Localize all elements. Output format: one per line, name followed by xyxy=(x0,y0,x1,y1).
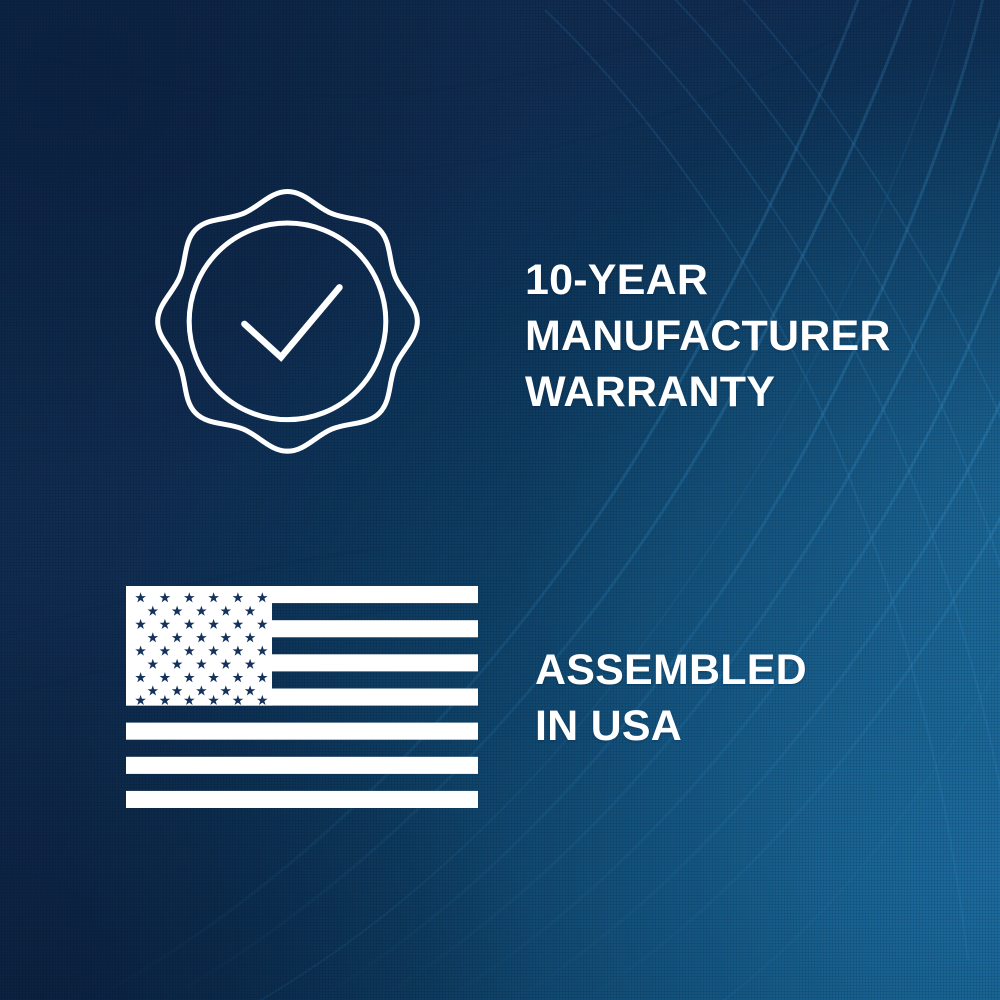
feature-warranty: 10-YEAR MANUFACTURER WARRANTY xyxy=(0,170,1000,510)
promo-graphic-canvas: 10-YEAR MANUFACTURER WARRANTY xyxy=(0,0,1000,1000)
warranty-headline: 10-YEAR MANUFACTURER WARRANTY xyxy=(525,253,955,421)
feature-list: 10-YEAR MANUFACTURER WARRANTY xyxy=(0,0,1000,1000)
feature-assembled-usa: ASSEMBLED IN USA xyxy=(0,570,1000,820)
assembled-usa-headline: ASSEMBLED IN USA xyxy=(535,643,965,755)
warranty-icon-slot xyxy=(0,170,480,510)
seal-inner-circle xyxy=(189,223,386,420)
usa-flag-icon-slot xyxy=(0,570,480,820)
warranty-seal-icon xyxy=(125,185,450,510)
usa-flag-icon xyxy=(126,586,478,808)
checkmark-icon xyxy=(244,287,339,357)
